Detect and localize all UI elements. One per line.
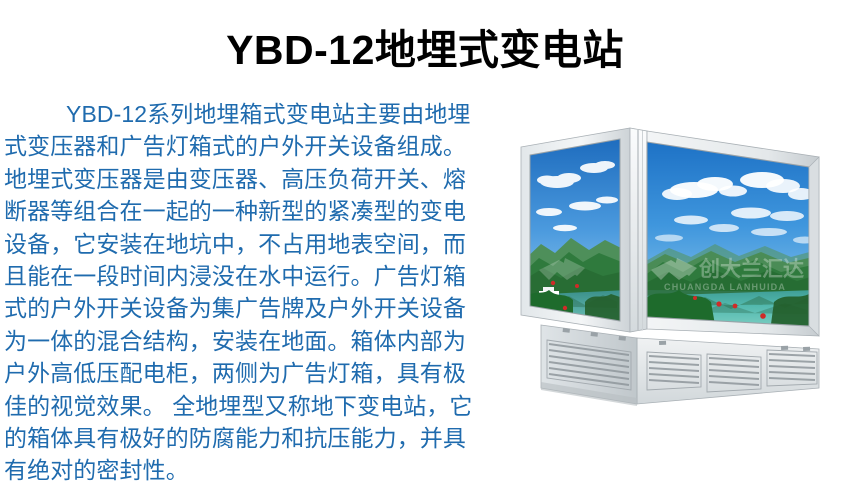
buoy <box>760 313 766 319</box>
description-line: 地埋式变压器是由变压器、高压负荷开关、熔 <box>4 163 516 195</box>
right-lightbox-panel: 创大兰汇达 CHUANGDA LANHUIDA <box>644 131 819 336</box>
description-line: 设备，它安装在地坑中，不占用地表空间，而 <box>4 228 516 260</box>
page-title: YBD-12地埋式变电站 <box>0 26 850 74</box>
corner-post <box>630 128 647 332</box>
buoy <box>563 306 567 310</box>
description-line: 有绝对的密封性。 <box>4 454 516 486</box>
buoy <box>733 304 738 309</box>
description-line: 且能在一段时间内浸没在水中运行。广告灯箱 <box>4 260 516 292</box>
description-line: 为一体的混合结构，安装在地面。箱体内部为 <box>4 325 516 357</box>
watermark-subtext: CHUANGDA LANHUIDA <box>664 282 786 292</box>
product-info-page: YBD-12地埋式变电站 YBD-12系列地埋箱式变电站主要由地埋 式变压器和广… <box>0 0 850 503</box>
left-lightbox-panel <box>521 128 630 332</box>
description-line: 式的户外开关设备为集广告牌及户外开关设备 <box>4 292 516 324</box>
watermark-text: 创大兰汇达 <box>698 257 804 281</box>
substation-lightbox-illustration: 创大兰汇达 CHUANGDA LANHUIDA <box>519 120 839 440</box>
watermark: 创大兰汇达 CHUANGDA LANHUIDA <box>651 257 804 292</box>
buoy <box>575 284 579 288</box>
description-line: 户外高低压配电柜，两侧为广告灯箱，具有极 <box>4 357 516 389</box>
ventilation-base <box>541 325 819 406</box>
buoy <box>693 296 697 300</box>
description-paragraph: YBD-12系列地埋箱式变电站主要由地埋 式变压器和广告灯箱式的户外开关设备组成… <box>4 98 516 487</box>
buoy <box>716 301 721 306</box>
product-photo: 创大兰汇达 CHUANGDA LANHUIDA <box>519 120 839 440</box>
description-line: 的箱体具有极好的防腐能力和抗压能力，并具 <box>4 422 516 454</box>
description-line: 佳的视觉效果。 全地埋型又称地下变电站，它 <box>4 390 516 422</box>
buoy <box>551 281 555 285</box>
description-line: YBD-12系列地埋箱式变电站主要由地埋 <box>4 98 516 130</box>
product-description: YBD-12系列地埋箱式变电站主要由地埋 式变压器和广告灯箱式的户外开关设备组成… <box>4 98 516 487</box>
description-line: 断器等组合在一起的一种新型的紧凑型的变电 <box>4 195 516 227</box>
description-line: 式变压器和广告灯箱式的户外开关设备组成。 <box>4 130 516 162</box>
